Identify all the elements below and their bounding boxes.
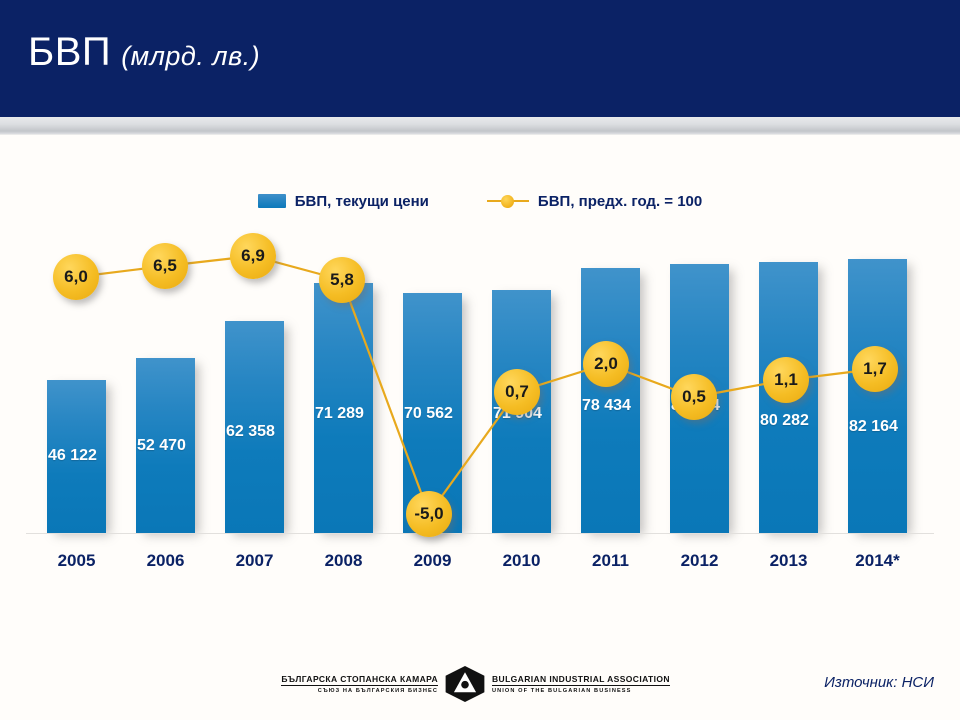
bar-value-label: 78 434: [582, 397, 655, 415]
logo-sub-bg: СЪЮЗ НА БЪЛГАРСКИЯ БИЗНЕС: [318, 688, 438, 694]
x-axis-tick-2009: 2009: [403, 551, 462, 571]
bar-value-label: 80 282: [760, 412, 833, 430]
line-marker-2007[interactable]: 6,9: [230, 233, 276, 279]
chart-baseline: [26, 533, 934, 534]
x-axis-tick-2011: 2011: [581, 551, 640, 571]
bar-2007[interactable]: [225, 321, 284, 533]
line-marker-2012[interactable]: 0,5: [671, 374, 717, 420]
page-title-main: БВП: [28, 30, 111, 74]
x-axis-tick-2013: 2013: [759, 551, 818, 571]
line-marker-2014[interactable]: 1,7: [852, 346, 898, 392]
x-axis-tick-2012: 2012: [670, 551, 729, 571]
source-note: Източник: НСИ: [824, 674, 934, 691]
line-marker-2013[interactable]: 1,1: [763, 357, 809, 403]
x-axis-tick-2010: 2010: [492, 551, 551, 571]
line-marker-2008[interactable]: 5,8: [319, 257, 365, 303]
bar-value-label: 80 044: [671, 397, 744, 415]
bar-swatch-icon: [258, 194, 286, 208]
line-marker-swatch-icon: [487, 194, 529, 208]
bar-2005[interactable]: [47, 380, 106, 533]
x-axis-tick-2007: 2007: [225, 551, 284, 571]
line-marker-2010[interactable]: 0,7: [494, 369, 540, 415]
logo-main-en: BULGARIAN INDUSTRIAL ASSOCIATION: [492, 674, 670, 686]
line-marker-2009[interactable]: -5,0: [406, 491, 452, 537]
legend-label-bars: БВП, текущи цени: [295, 193, 429, 210]
bar-2008[interactable]: [314, 283, 373, 533]
bia-hexagon-icon: [444, 666, 486, 702]
line-marker-2011[interactable]: 2,0: [583, 341, 629, 387]
x-axis-tick-2005: 2005: [47, 551, 106, 571]
bar-2006[interactable]: [136, 358, 195, 533]
bar-value-label: 71 289: [315, 405, 388, 423]
x-axis-tick-2006: 2006: [136, 551, 195, 571]
bar-2014[interactable]: [848, 259, 907, 533]
chart-legend: БВП, текущи цени БВП, предх. год. = 100: [0, 188, 960, 214]
legend-item-bars[interactable]: БВП, текущи цени: [258, 193, 429, 210]
bar-2009[interactable]: [403, 293, 462, 533]
bia-logo: БЪЛГАРСКА СТОПАНСКА КАМАРА СЪЮЗ НА БЪЛГА…: [288, 666, 656, 702]
x-axis-tick-2008: 2008: [314, 551, 373, 571]
line-marker-2006[interactable]: 6,5: [142, 243, 188, 289]
bar-value-label: 62 358: [226, 423, 299, 441]
bar-value-label: 70 562: [404, 405, 477, 423]
logo-main-bg: БЪЛГАРСКА СТОПАНСКА КАМАРА: [281, 674, 438, 686]
logo-text-bulgarian: БЪЛГАРСКА СТОПАНСКА КАМАРА СЪЮЗ НА БЪЛГА…: [288, 674, 438, 694]
bar-2011[interactable]: [581, 268, 640, 533]
logo-text-english: BULGARIAN INDUSTRIAL ASSOCIATION UNION O…: [492, 674, 656, 694]
bar-value-label: 52 470: [137, 437, 210, 455]
logo-sub-en: UNION OF THE BULGARIAN BUSINESS: [492, 688, 631, 694]
legend-label-line: БВП, предх. год. = 100: [538, 193, 702, 210]
bar-value-label: 46 122: [48, 447, 121, 465]
line-marker-2005[interactable]: 6,0: [53, 254, 99, 300]
header-divider: [0, 117, 960, 135]
bar-value-label: 71 904: [493, 405, 566, 423]
bar-2010[interactable]: [492, 290, 551, 533]
bar-2013[interactable]: [759, 262, 818, 533]
bar-value-label: 82 164: [849, 418, 922, 436]
page-title-subtitle: (млрд. лв.): [121, 41, 260, 71]
bar-2012[interactable]: [670, 264, 729, 533]
legend-item-line[interactable]: БВП, предх. год. = 100: [487, 193, 702, 210]
x-axis-tick-2014: 2014*: [848, 551, 907, 571]
page-title: БВП(млрд. лв.): [28, 30, 260, 75]
